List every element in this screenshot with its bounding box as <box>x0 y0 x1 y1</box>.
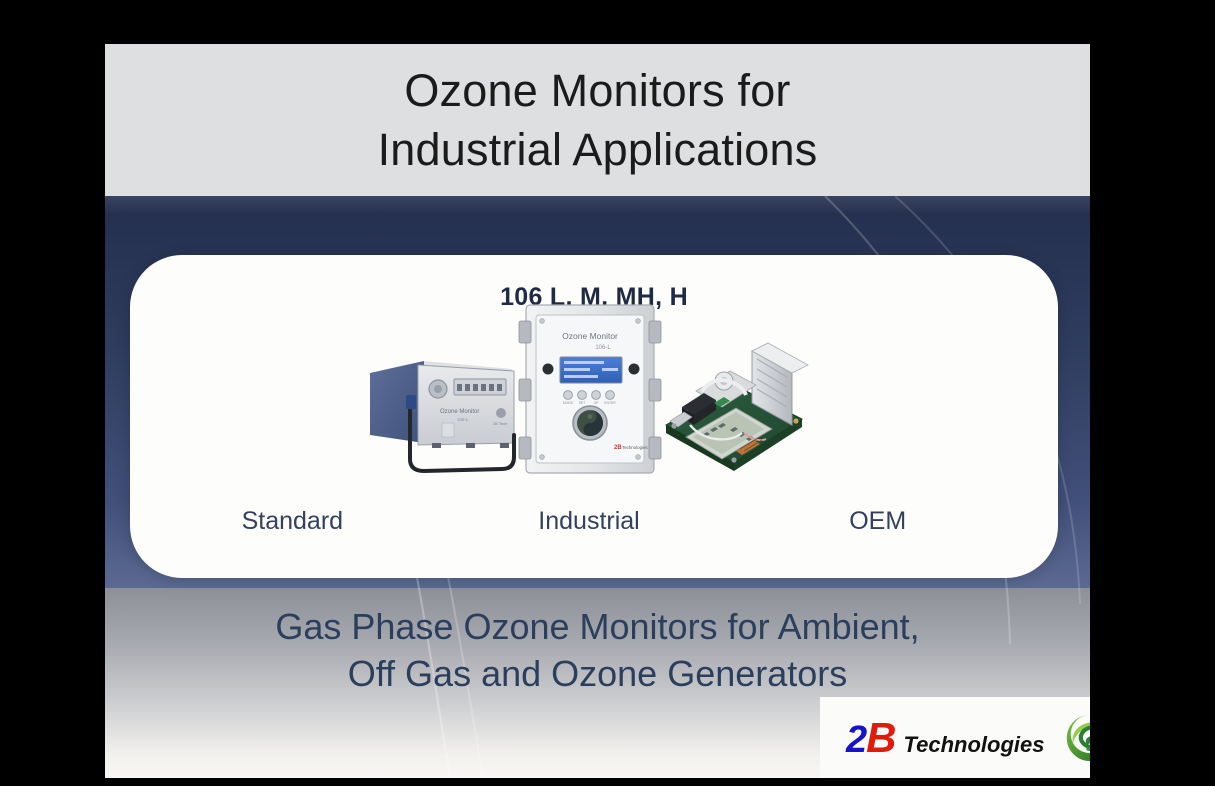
presentation-slide: Ozone Monitors for Industrial Applicatio… <box>105 44 1090 778</box>
slide-title-band: Ozone Monitors for Industrial Applicatio… <box>105 44 1090 196</box>
svg-text:ENTER: ENTER <box>604 401 616 405</box>
logo-2b-wordmark: Technologies <box>903 732 1044 758</box>
slide-title-line-2: Industrial Applications <box>378 120 818 179</box>
svg-text:Technologies: Technologies <box>622 445 648 450</box>
product-image-industrial: Ozone Monitor 106-L <box>510 299 670 479</box>
logo-strip: 2 B Technologies 同林臭氧 <box>820 697 1090 778</box>
svg-text:SET: SET <box>579 401 586 405</box>
svg-text:Ozone Monitor: Ozone Monitor <box>562 331 618 341</box>
product-card: 106 L, M, MH, H <box>130 255 1058 578</box>
product-image-row: Ozone Monitor 106-L 2B Tech <box>130 323 1058 503</box>
logo-2b-technologies: 2 B Technologies <box>846 714 1044 762</box>
caption-line-1: Gas Phase Ozone Monitors for Ambient, <box>105 604 1090 651</box>
logo-tonglin: 同林臭氧 TONGLIN <box>1064 712 1090 764</box>
navy-band-highlight <box>105 196 1090 214</box>
svg-text:Ozone Monitor: Ozone Monitor <box>440 409 479 415</box>
caption-line-2: Off Gas and Ozone Generators <box>105 651 1090 698</box>
logo-2b-letter: B <box>866 714 895 762</box>
product-label-industrial: Industrial <box>437 507 734 536</box>
slide-caption: Gas Phase Ozone Monitors for Ambient, Of… <box>105 604 1090 698</box>
svg-text:MODE: MODE <box>563 401 574 405</box>
product-labels-row: Standard Industrial OEM <box>130 507 1058 536</box>
svg-text:UP: UP <box>594 401 599 405</box>
product-label-standard: Standard <box>130 507 437 536</box>
tonglin-swirl-icon <box>1064 712 1090 764</box>
slide-title-line-1: Ozone Monitors for <box>404 61 790 120</box>
svg-text:106-L: 106-L <box>457 417 469 422</box>
screen-background: Ozone Monitors for Industrial Applicatio… <box>0 0 1215 786</box>
product-image-oem <box>660 329 810 489</box>
logo-2b-digit: 2 <box>846 719 866 762</box>
svg-text:2B Tech: 2B Tech <box>493 421 507 426</box>
product-label-oem: OEM <box>733 507 1058 536</box>
svg-text:106-L: 106-L <box>595 345 611 351</box>
product-image-standard: Ozone Monitor 106-L 2B Tech <box>362 339 530 489</box>
